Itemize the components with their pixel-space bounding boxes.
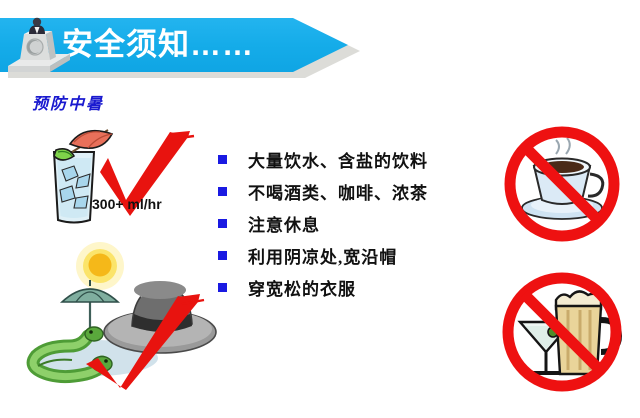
hydration-rate-label: 300+ ml/hr	[92, 196, 162, 212]
section-subheading: 预防中暑	[32, 90, 104, 114]
prevention-bullet-list: 大量饮水、含盐的饮料 不喝酒类、咖啡、浓茶 注意休息 利用阴凉处,宽沿帽 穿宽松…	[218, 143, 508, 303]
bullet-square-icon	[218, 155, 227, 164]
list-item: 穿宽松的衣服	[218, 271, 508, 303]
podium-speaker-icon	[6, 16, 72, 78]
list-item: 大量饮水、含盐的饮料	[218, 143, 508, 175]
list-item-label: 穿宽松的衣服	[248, 275, 356, 300]
list-item-label: 大量饮水、含盐的饮料	[248, 147, 428, 172]
bullet-square-icon	[218, 283, 227, 292]
slide-canvas: 安全须知…… 预防中暑	[0, 0, 640, 418]
no-coffee-sign	[498, 128, 626, 240]
list-item-label: 注意休息	[248, 211, 320, 236]
sun-icon	[76, 242, 124, 290]
list-item: 利用阴凉处,宽沿帽	[218, 239, 508, 271]
list-item-label: 不喝酒类、咖啡、浓茶	[248, 179, 428, 204]
list-item: 不喝酒类、咖啡、浓茶	[218, 175, 508, 207]
shade-and-hat-illustration	[28, 240, 218, 390]
cocktail-umbrella-icon	[70, 130, 112, 152]
page-title: 安全须知……	[62, 26, 254, 64]
bullet-square-icon	[218, 251, 227, 260]
list-item: 注意休息	[218, 207, 508, 239]
iced-drink-glass-icon	[54, 149, 94, 223]
no-alcohol-sign	[498, 272, 626, 392]
bullet-square-icon	[218, 187, 227, 196]
list-item-label: 利用阴凉处,宽沿帽	[248, 243, 397, 268]
bullet-square-icon	[218, 219, 227, 228]
